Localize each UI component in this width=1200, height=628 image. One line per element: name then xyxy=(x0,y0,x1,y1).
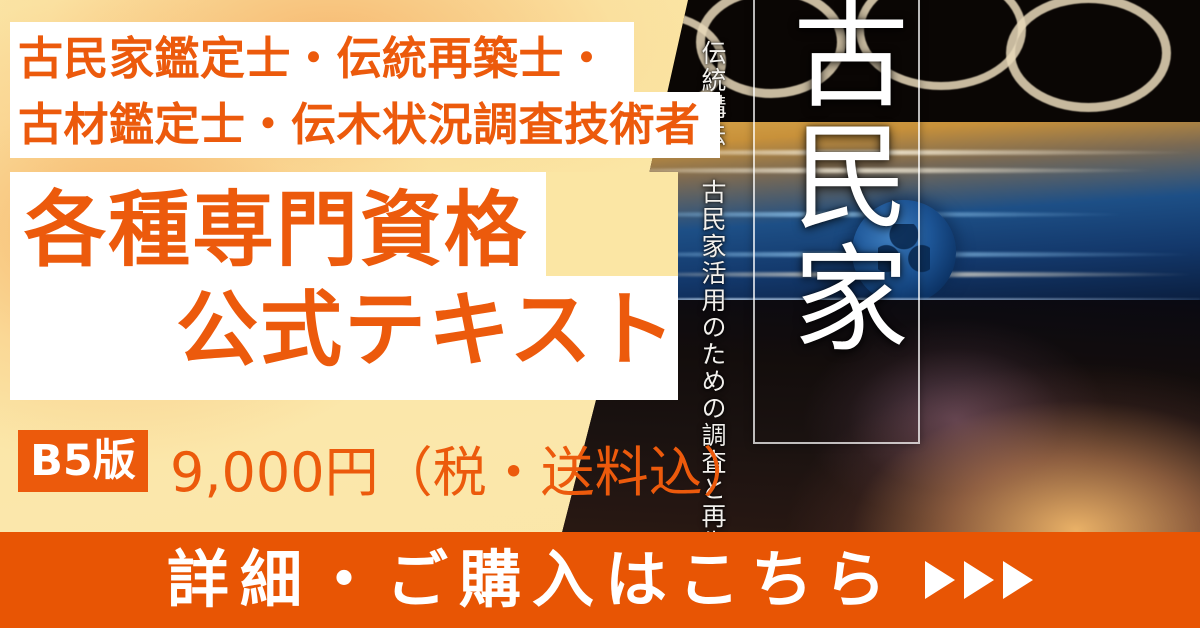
chevron-right-icon xyxy=(964,561,994,599)
price-text: 9,000円（税・送料込） xyxy=(170,428,757,507)
promo-banner: 古民家 伝統構法 古民家活用のための調査と再生の 古民家鑑定士・伝統再築士・ 古… xyxy=(0,0,1200,628)
claim-line-2: 公式テキスト xyxy=(176,290,678,372)
cta-label: 詳細・ご購入はこちら xyxy=(167,549,897,611)
format-badge: B5版 xyxy=(18,430,148,492)
cta-arrows xyxy=(925,561,1033,599)
cta-button[interactable]: 詳細・ご購入はこちら xyxy=(0,532,1200,628)
chevron-right-icon xyxy=(1003,561,1033,599)
headline-line-2: 古材鑑定士・伝木状況調査技術者 xyxy=(18,92,728,158)
chevron-right-icon xyxy=(925,561,955,599)
claim-line-1: 各種専門資格 xyxy=(24,190,528,272)
headline-line-1: 古民家鑑定士・伝統再築士・ xyxy=(18,26,728,92)
cover-title: 古民家 xyxy=(768,0,908,360)
